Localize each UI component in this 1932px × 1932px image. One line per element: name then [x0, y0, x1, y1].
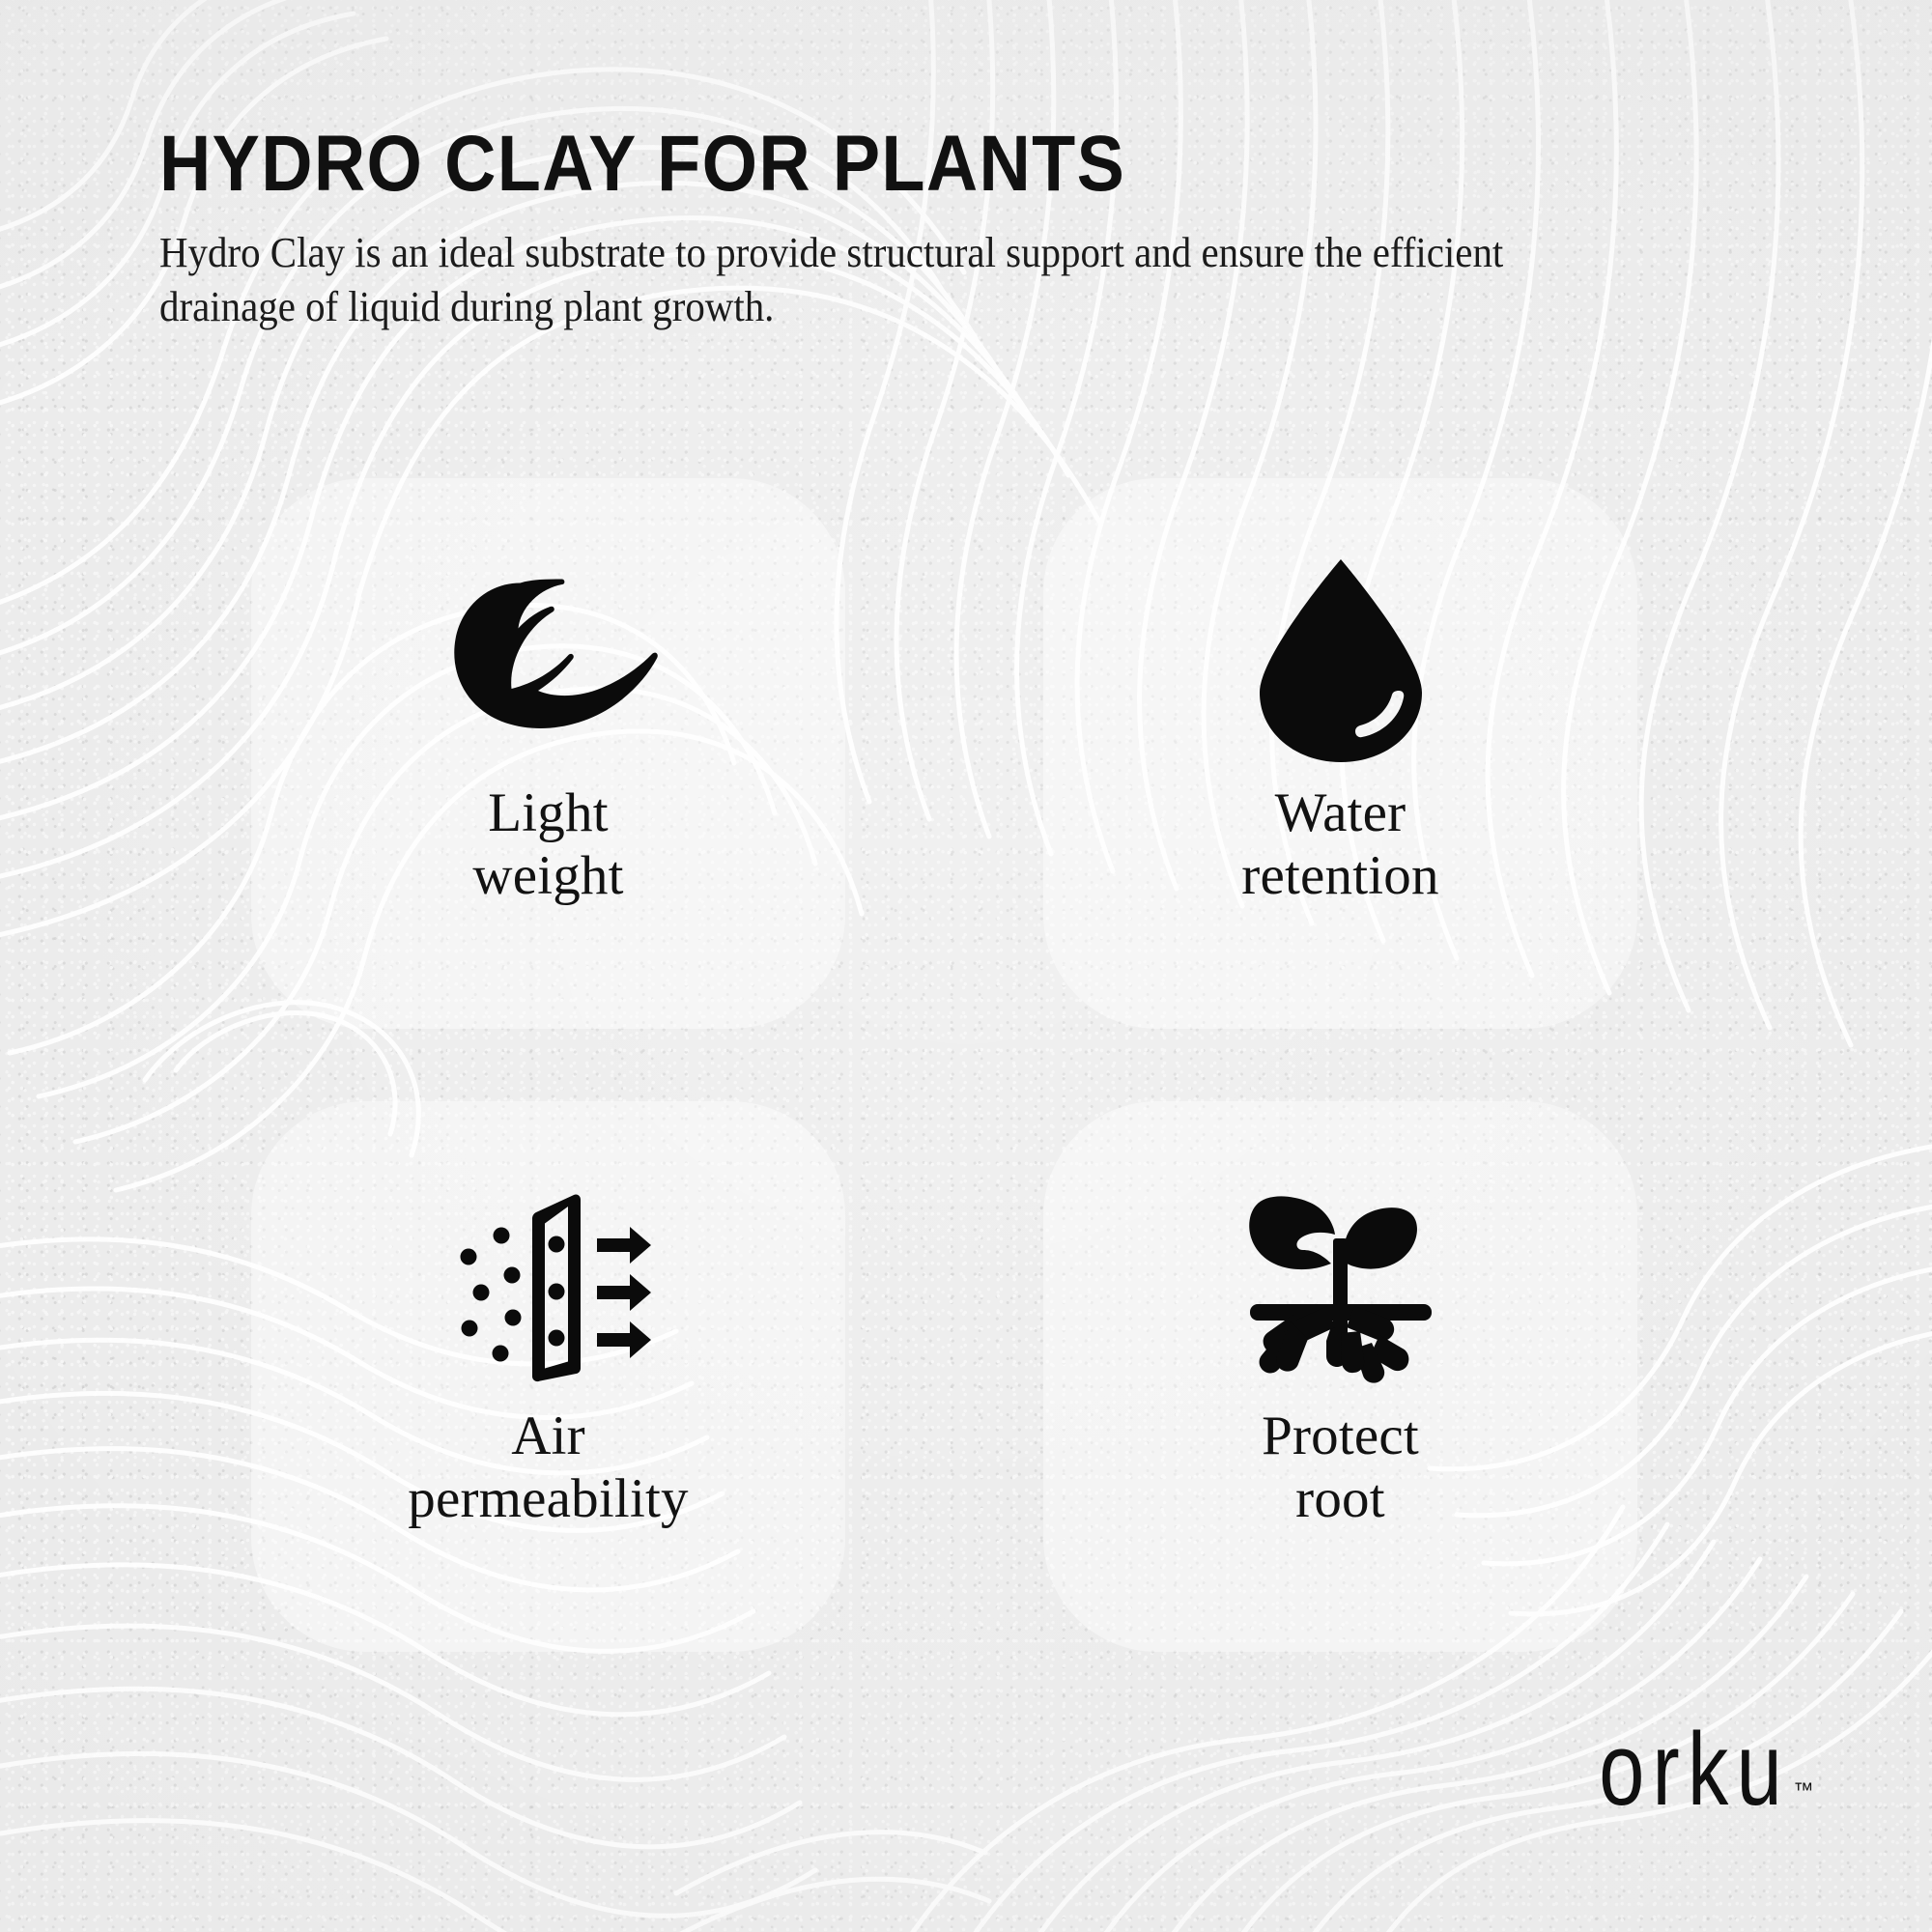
feature-card-label: Air permeability [388, 1406, 707, 1531]
feather-icon [423, 552, 674, 769]
feature-label-line-1: Light [472, 782, 623, 845]
feature-card-label: Protect root [1242, 1406, 1438, 1531]
trademark-symbol: ™ [1794, 1779, 1815, 1803]
page-subtitle: Hydro Clay is an ideal substrate to prov… [159, 226, 1561, 335]
brand-wordmark: orku [1599, 1723, 1790, 1818]
feature-card-air-permeability[interactable]: Air permeability [251, 1101, 845, 1652]
air-permeability-icon [423, 1175, 674, 1392]
water-drop-icon [1215, 552, 1466, 769]
brand-logo: orku ™ [1582, 1736, 1814, 1818]
seedling-root-icon [1215, 1175, 1466, 1392]
page-title: HYDRO CLAY FOR PLANTS [159, 124, 1637, 205]
feature-label-line-2: weight [472, 845, 623, 908]
feature-label-line-2: permeability [408, 1468, 688, 1531]
feature-card-water-retention[interactable]: Water retention [1043, 478, 1637, 1029]
feature-label-line-2: root [1262, 1468, 1419, 1531]
header: HYDRO CLAY FOR PLANTS Hydro Clay is an i… [159, 124, 1802, 334]
feature-label-line-1: Protect [1262, 1406, 1419, 1468]
feature-card-label: Water retention [1222, 782, 1458, 908]
feature-card-light-weight[interactable]: Light weight [251, 478, 845, 1029]
feature-label-line-1: Air [408, 1406, 688, 1468]
feature-grid: Light weight Water retention [251, 478, 1681, 1652]
feature-card-label: Light weight [453, 782, 642, 908]
feature-label-line-1: Water [1241, 782, 1438, 845]
feature-card-protect-root[interactable]: Protect root [1043, 1101, 1637, 1652]
feature-label-line-2: retention [1241, 845, 1438, 908]
